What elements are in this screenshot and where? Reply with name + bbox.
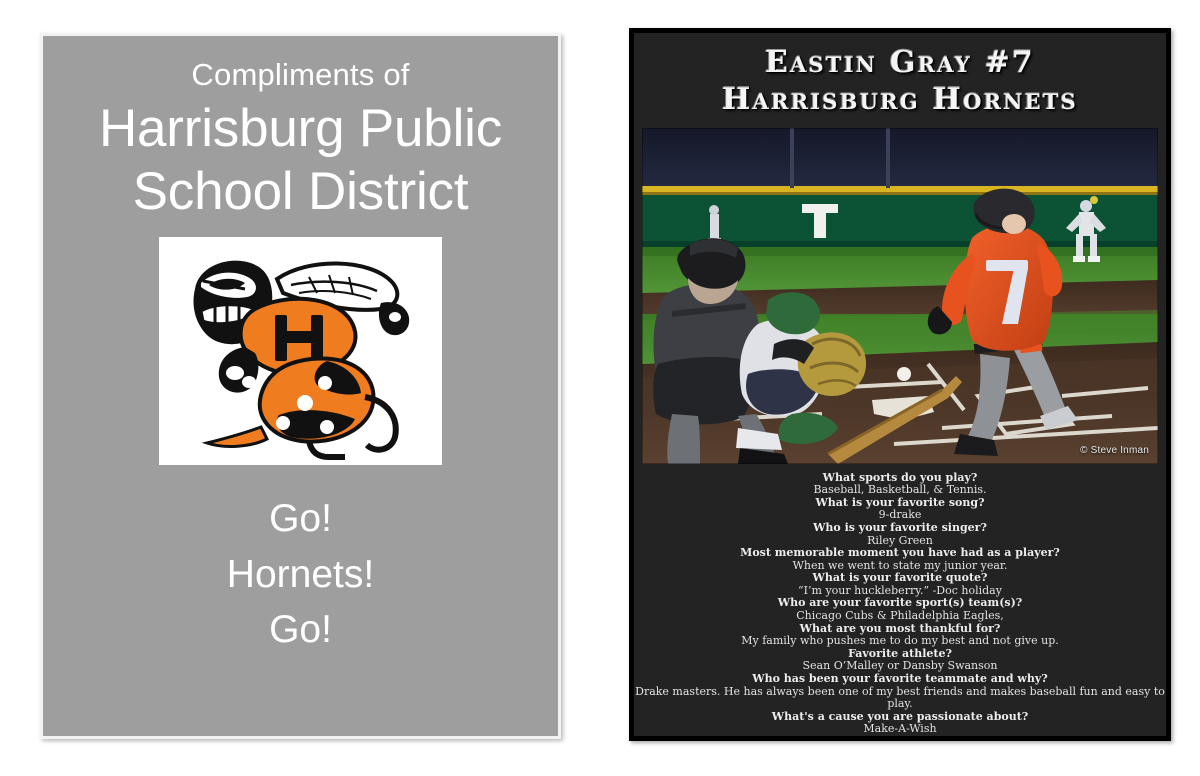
district-name: Harrisburg PublicSchool District [43, 98, 558, 223]
catchers-mitt [798, 333, 866, 397]
qa-answer: Drake masters. He has always been one of… [634, 686, 1166, 711]
sponsor-panel: Compliments of Harrisburg PublicSchool D… [40, 33, 561, 739]
player-poster-panel: Eastin Gray #7 Harrisburg Hornets [629, 28, 1171, 741]
qa-answer: Chicago Cubs & Philadelphia Eagles, [634, 610, 1166, 623]
qa-question: Who has been your favorite teammate and … [634, 673, 1166, 686]
qa-question: Most memorable moment you have had as a … [634, 547, 1166, 560]
qa-question: What is your favorite quote? [634, 572, 1166, 585]
photo-credit: © Steve Inman [1080, 445, 1149, 456]
qa-answer: Make-A-Wish [634, 723, 1166, 736]
poster-title-line2: Harrisburg Hornets [722, 82, 1078, 119]
player-qa-list: What sports do you play?Baseball, Basket… [634, 472, 1166, 736]
cheer-text: Go!Hornets!Go! [43, 491, 558, 657]
qa-question: Who is your favorite singer? [634, 522, 1166, 535]
baseball-action-photo: © Steve Inman [642, 128, 1158, 463]
compliments-label: Compliments of [191, 58, 409, 92]
qa-answer: My family who pushes me to do my best an… [634, 635, 1166, 648]
qa-answer: Baseball, Basketball, & Tennis. [634, 484, 1166, 497]
hornet-mascot-icon [159, 237, 442, 465]
poster-title-line1: Eastin Gray #7 [765, 45, 1035, 82]
